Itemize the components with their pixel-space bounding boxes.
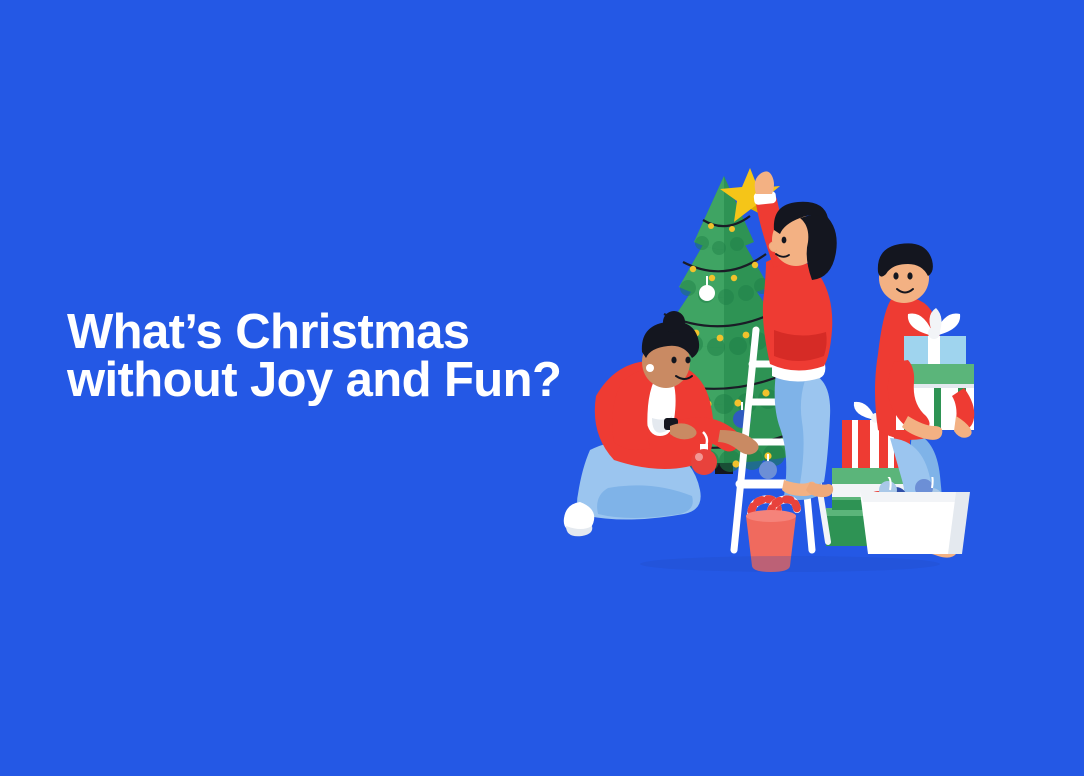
floor-shadow [640,556,940,572]
christmas-illustration [560,150,1030,590]
christmas-banner: What’s Christmas without Joy and Fun? [0,0,1084,776]
page-title: What’s Christmas without Joy and Fun? [67,308,627,404]
